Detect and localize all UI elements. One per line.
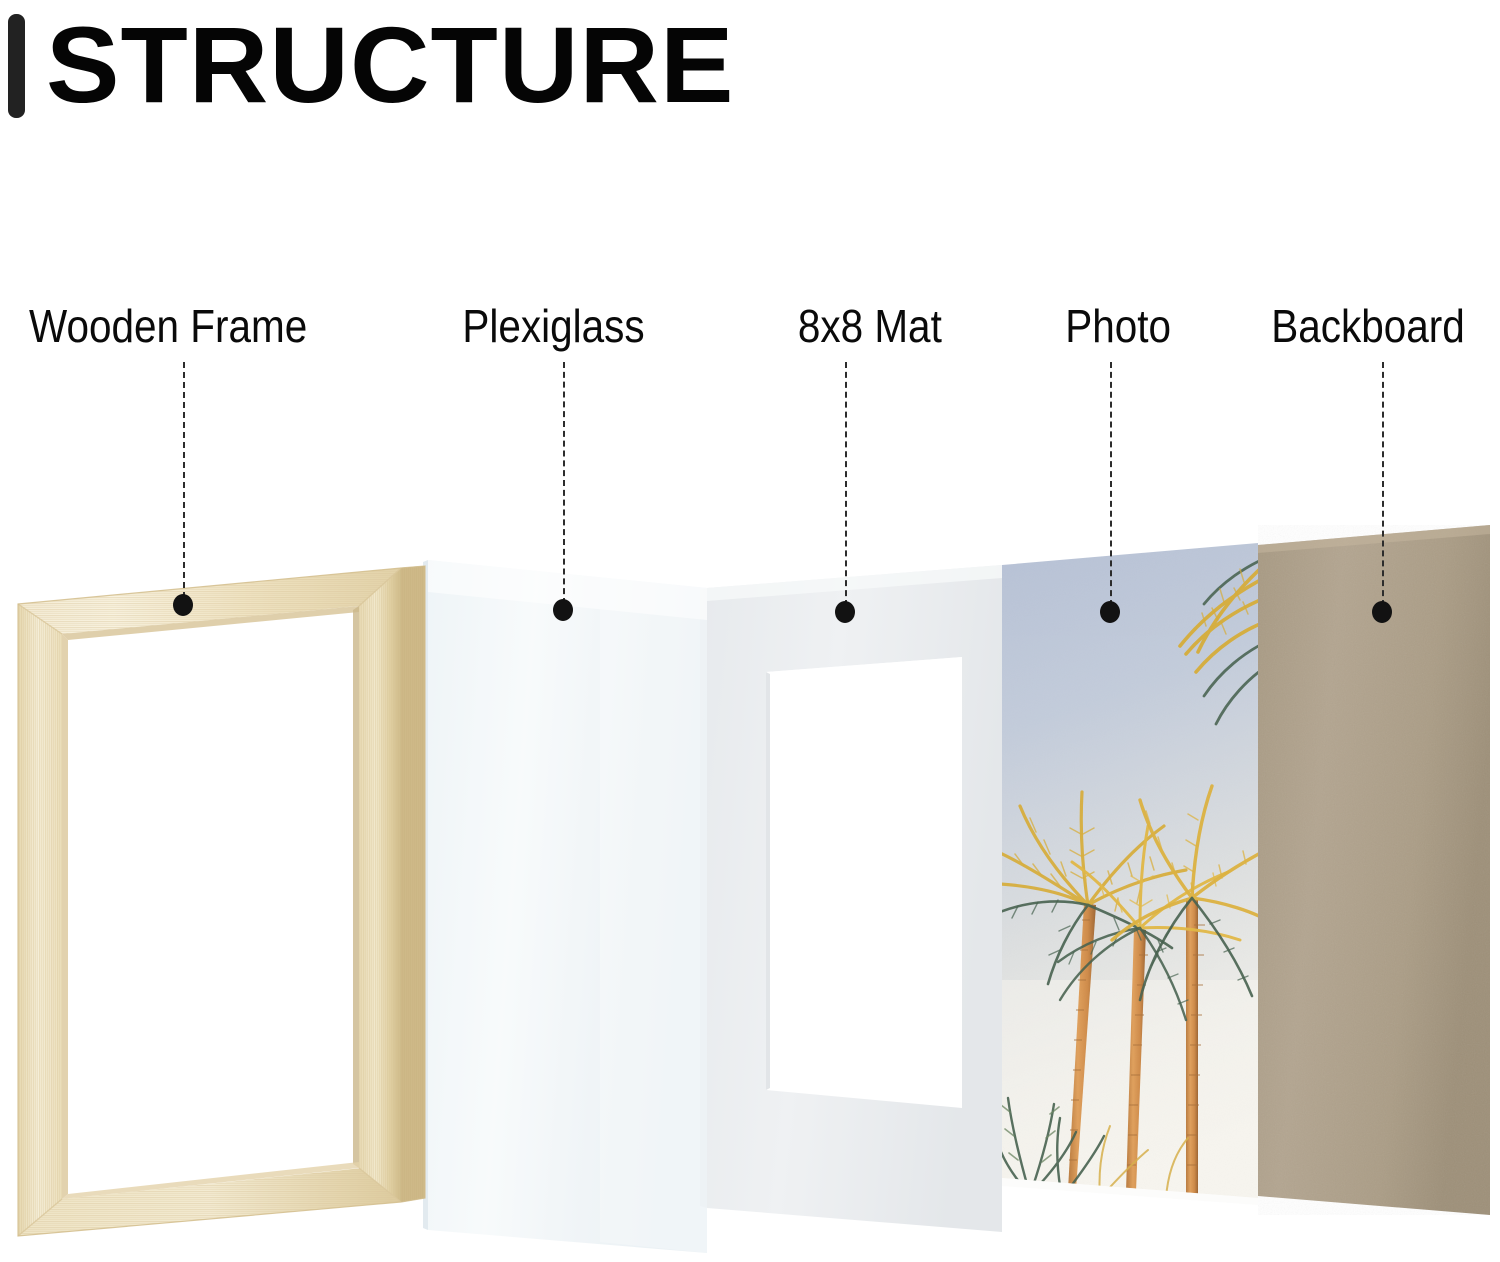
leader-line-backboard [1382,362,1384,606]
leader-dot-photo [1100,601,1120,623]
callout-leaders [0,0,1500,1262]
leader-line-plexiglass [563,362,565,604]
leader-line-photo [1110,362,1112,606]
leader-dot-mat [835,601,855,623]
leader-dot-plexiglass [553,599,573,621]
leader-dot-wooden-frame [173,594,193,616]
leader-line-mat [845,362,847,606]
structure-diagram: STRUCTURE Wooden Frame Plexiglass 8x8 Ma… [0,0,1500,1262]
leader-line-wooden-frame [183,362,185,598]
leader-dot-backboard [1372,601,1392,623]
